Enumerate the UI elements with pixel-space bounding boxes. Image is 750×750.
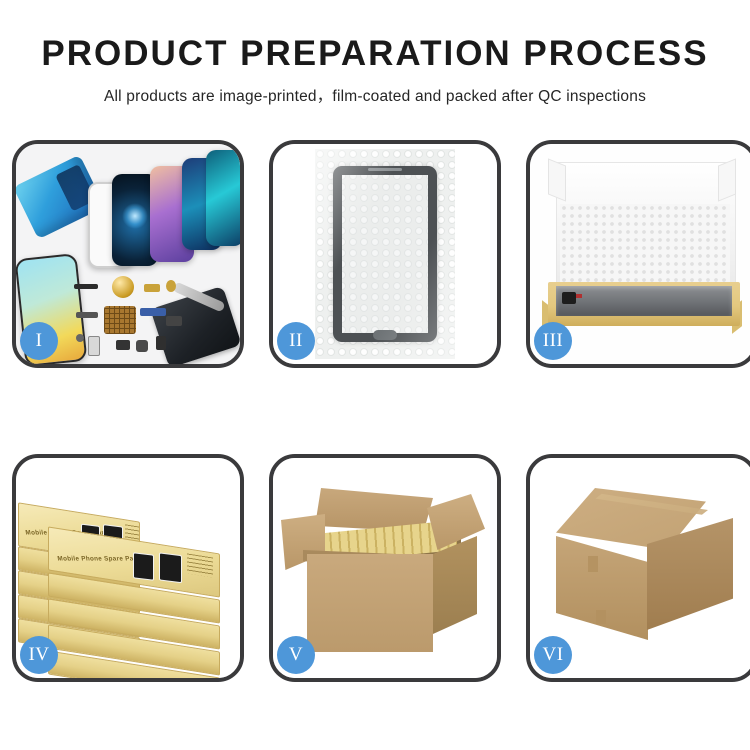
box-art-text-lines — [187, 553, 213, 577]
box-lid-flap-right — [718, 158, 736, 201]
carton-seam — [588, 556, 598, 572]
small-part — [136, 340, 148, 352]
step-badge-1: I — [20, 322, 58, 360]
box-lid-flap-left — [548, 158, 566, 201]
product-preparation-infographic: PRODUCT PREPARATION PROCESS All products… — [0, 0, 750, 750]
step-badge-5: V — [277, 636, 315, 674]
kraft-inner-box — [548, 282, 740, 326]
step-card-3: III — [526, 140, 750, 368]
step-card-5: V — [269, 454, 501, 682]
small-part — [166, 280, 176, 292]
foam-padding — [560, 204, 730, 288]
small-part — [76, 312, 98, 318]
small-part — [116, 340, 130, 350]
page-subtitle: All products are image-printed，film-coat… — [0, 84, 750, 106]
box-label: Mobile Phone Spare Parts — [57, 556, 143, 563]
small-part — [140, 308, 166, 316]
packed-screen-product — [556, 286, 732, 316]
step-badge-6: VI — [534, 636, 572, 674]
process-steps-grid: I II — [12, 140, 738, 682]
small-part — [74, 284, 98, 289]
step-card-6: VI — [526, 454, 750, 682]
step-card-4: Mobile Phone Spare Parts Mobile Phone Sp… — [12, 454, 244, 682]
small-part — [76, 334, 84, 342]
page-title: PRODUCT PREPARATION PROCESS — [0, 36, 750, 73]
carton-front-face — [307, 554, 433, 652]
phone-teal — [206, 150, 240, 246]
step-card-1: I — [12, 140, 244, 368]
step-badge-3: III — [534, 322, 572, 360]
header: PRODUCT PREPARATION PROCESS All products… — [0, 0, 750, 106]
screen-panel — [333, 166, 437, 342]
step-card-2: II — [269, 140, 501, 368]
gold-coil-part — [112, 276, 134, 298]
small-part — [156, 336, 166, 350]
small-part — [166, 316, 182, 326]
small-part — [144, 284, 160, 292]
box-art-screen — [159, 552, 182, 583]
step-badge-4: IV — [20, 636, 58, 674]
small-part — [88, 336, 100, 356]
step-badge-2: II — [277, 322, 315, 360]
carton-front-face — [556, 536, 648, 640]
chip-grid-part — [104, 306, 136, 334]
carton-seam — [596, 610, 606, 624]
bubble-wrap — [315, 149, 455, 359]
box-art-screen — [133, 552, 154, 581]
